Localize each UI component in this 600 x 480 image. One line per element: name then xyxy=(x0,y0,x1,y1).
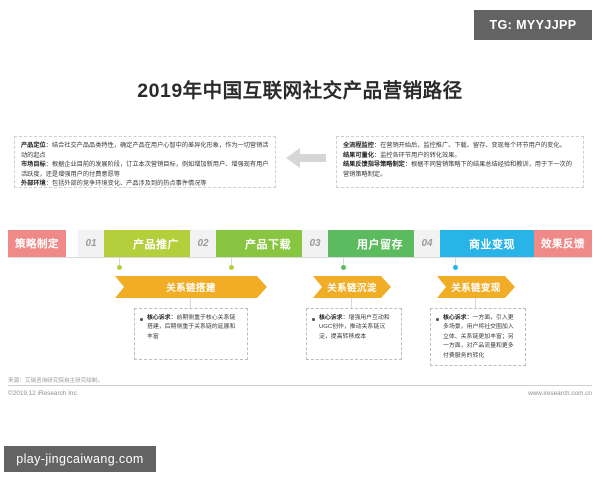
strategy-input-text: ：包括外部的竞争环境变化、产品涉及到的热点事件情况等 xyxy=(46,180,207,187)
feedback-output-label: 结果可量化 xyxy=(343,152,374,159)
infographic-canvas: TG: MYYJJPP play-jingcaiwang.com 2019年中国… xyxy=(0,0,600,480)
core-need-label: 核心诉求 xyxy=(147,315,171,321)
flow-start-label: 策略制定 xyxy=(8,230,66,257)
website-link[interactable]: www.iresearch.com.cn xyxy=(528,390,592,397)
chain-arrow-3: 关系链变现 xyxy=(437,276,515,298)
left-arrow-icon xyxy=(284,145,328,171)
feedback-output-label: 结果反馈指导策略制定 xyxy=(343,161,405,168)
strategy-input-label: 外部环境 xyxy=(21,180,46,187)
telegram-watermark: TG: MYYJJPP xyxy=(474,10,592,40)
core-need-box-3: 核心诉求：一方面，引入更多场景，用户将社交圈加入立体、关系链更加丰富；另一方面，… xyxy=(430,308,526,366)
feedback-output-text: ：在营销开始后，监控推广、下载、留存、变现每个环节用户的变化。 xyxy=(374,142,566,149)
chain-dot xyxy=(453,265,458,270)
chain-arrow-2: 关系链沉淀 xyxy=(313,276,391,298)
need-connector xyxy=(351,298,352,308)
stage-number: 02 xyxy=(190,230,216,257)
need-connector xyxy=(475,298,476,308)
core-need-box-2: 核心诉求：增强用户互动和UGC创作，推动关系链沉淀，提高转移成本 xyxy=(306,308,402,360)
site-watermark: play-jingcaiwang.com xyxy=(4,446,156,472)
strategy-input-label: 产品定位 xyxy=(21,142,46,149)
flow-stage-04[interactable]: 04 商业变现 xyxy=(414,230,552,257)
strategy-input-line: 产品定位：结合社交产品品类特性，确定产品在用户心智中的差异化形象，作为一切营销活… xyxy=(21,141,269,160)
chain-dot xyxy=(229,265,234,270)
flow-stage-row: 策略制定 01 产品推广 02 产品下载 03 用户留存 04 商业变现 效果反… xyxy=(0,230,600,260)
stage-number: 01 xyxy=(78,230,104,257)
stage-number: 03 xyxy=(302,230,328,257)
page-title: 2019年中国互联网社交产品营销路径 xyxy=(0,74,600,103)
strategy-input-text: ：根据企业目前的发展阶段，订立本次营销目标，例如增加新用户、增强现有用户活跃度，… xyxy=(21,161,269,178)
strategy-input-line: 外部环境：包括外部的竞争环境变化、产品涉及到的热点事件情况等 xyxy=(21,179,269,189)
copyright-note: ©2019.12 iResearch Inc. xyxy=(8,390,78,397)
strategy-input-line: 市场目标：根据企业目前的发展阶段，订立本次营销目标，例如增加新用户、增强现有用户… xyxy=(21,160,269,179)
feedback-output-line: 全流程监控：在营销开始后，监控推广、下载、留存、变现每个环节用户的变化。 xyxy=(343,141,577,151)
feedback-output-line: 结果反馈指导策略制定：根据不同营销策略下的结果总结经验和教训，用于下一次的营销策… xyxy=(343,160,577,179)
stage-number: 04 xyxy=(414,230,440,257)
chain-dot xyxy=(117,265,122,270)
footer-divider xyxy=(8,385,592,386)
flow-end-label: 效果反馈 xyxy=(534,230,592,257)
chain-dot xyxy=(341,265,346,270)
core-need-text: ：一方面，引入更多场景，用户将社交圈加入立体、关系链更加丰富；另一方面，对产品流… xyxy=(443,315,514,359)
strategy-inputs-box: 产品定位：结合社交产品品类特性，确定产品在用户心智中的差异化形象，作为一切营销活… xyxy=(14,136,276,188)
feedback-output-line: 结果可量化：监控各环节用户的转化效果。 xyxy=(343,151,577,161)
strategy-input-label: 市场目标 xyxy=(21,161,46,168)
need-connector xyxy=(190,298,191,308)
source-note: 来源：艾瑞咨询研究院自主研究绘制。 xyxy=(8,376,103,384)
feedback-outputs-box: 全流程监控：在营销开始后，监控推广、下载、留存、变现每个环节用户的变化。 结果可… xyxy=(336,136,584,188)
core-need-label: 核心诉求 xyxy=(319,315,343,321)
feedback-output-label: 全流程监控 xyxy=(343,142,374,149)
core-need-label: 核心诉求 xyxy=(443,315,467,321)
feedback-output-text: ：监控各环节用户的转化效果。 xyxy=(374,152,461,159)
chain-arrow-1: 关系链搭建 xyxy=(115,276,267,298)
core-need-box-1: 核心诉求：前期侧重于核心关系链搭建，后期侧重于关系链的延展和丰富 xyxy=(134,308,248,360)
strategy-input-text: ：结合社交产品品类特性，确定产品在用户心智中的差异化形象，作为一切营销活动的起点 xyxy=(21,142,269,159)
